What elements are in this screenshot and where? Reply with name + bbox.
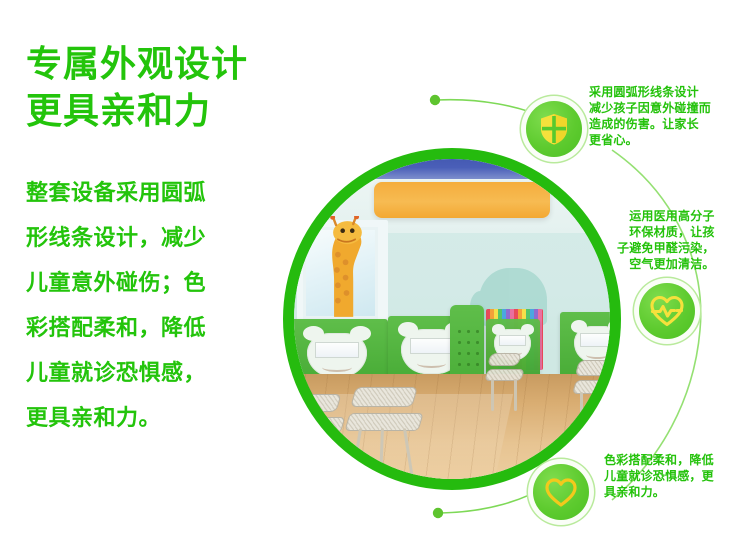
photo-chair-leg bbox=[290, 430, 300, 476]
photo-booth-bearplate-1 bbox=[307, 333, 368, 377]
photo-booth-screen-4 bbox=[580, 333, 614, 347]
photo-chair-leg bbox=[514, 379, 517, 412]
connector-dot-bottom bbox=[433, 508, 443, 518]
clinic-photo-image bbox=[283, 148, 621, 490]
photo-booth-mouth-1 bbox=[322, 363, 351, 372]
callout-text-safety: 采用圆弧形线条设计 减少孩子因意外碰撞而 造成的伤害。让家长 更省心。 bbox=[589, 84, 711, 148]
callout-material-line-2: 环保材质，让孩 bbox=[617, 224, 715, 240]
photo-chair-leg bbox=[491, 379, 494, 412]
photo-booth-screen-1 bbox=[315, 342, 359, 358]
shield-icon bbox=[539, 113, 569, 145]
callout-material-line-3: 子避免甲醛污染， bbox=[617, 240, 715, 256]
body-copy-line-3: 儿童意外碰伤；色 bbox=[26, 260, 276, 305]
photo-ceiling-orange-panel bbox=[374, 182, 550, 218]
photo-chair-back-2 bbox=[350, 387, 418, 407]
photo-chair-seat-4 bbox=[572, 380, 621, 394]
heart-icon bbox=[544, 477, 578, 508]
photo-chair-leg bbox=[580, 392, 583, 432]
photo-chair-3 bbox=[486, 353, 523, 411]
photo-chair-4 bbox=[574, 360, 621, 432]
callout-safety-line-3: 造成的伤害。让家长 bbox=[589, 116, 711, 132]
photo-chair-leg bbox=[326, 430, 336, 476]
photo-chair-leg bbox=[379, 428, 383, 482]
photo-chair-seat-2 bbox=[345, 413, 425, 431]
connector-dot-top bbox=[430, 95, 440, 105]
photo-booth-bearplate-4 bbox=[574, 326, 621, 364]
body-copy-line-5: 儿童就诊恐惧感， bbox=[26, 350, 276, 395]
photo-chair-leg bbox=[351, 428, 362, 479]
photo-chair-seat-1 bbox=[284, 417, 346, 433]
poster-canvas: 专属外观设计 更具亲和力 整套设备采用圆弧 形线条设计，减少 儿童意外碰伤；色 … bbox=[0, 0, 750, 539]
callout-text-material: 运用医用高分子 环保材质，让孩 子避免甲醛污染， 空气更加清洁。 bbox=[617, 208, 715, 272]
photo-giraffe-decal bbox=[313, 216, 370, 322]
connector-line-bottom bbox=[441, 486, 546, 513]
body-copy-line-2: 形线条设计，减少 bbox=[26, 215, 276, 260]
body-copy: 整套设备采用圆弧 形线条设计，减少 儿童意外碰伤；色 彩搭配柔和，降低 儿童就诊… bbox=[26, 170, 276, 440]
callout-safety-line-2: 减少孩子因意外碰撞而 bbox=[589, 100, 711, 116]
photo-booth-screen-3 bbox=[499, 335, 526, 346]
callout-icon-color[interactable] bbox=[533, 464, 589, 520]
body-copy-line-6: 更具亲和力。 bbox=[26, 395, 276, 440]
photo-chair-back-4 bbox=[575, 360, 619, 376]
body-copy-line-1: 整套设备采用圆弧 bbox=[26, 170, 276, 215]
headline-line-2: 更具亲和力 bbox=[26, 87, 326, 134]
heartbeat-icon bbox=[650, 295, 684, 327]
photo-chair-back-1 bbox=[288, 394, 341, 412]
photo-ceiling-blue-panel bbox=[370, 148, 540, 179]
photo-chair-2 bbox=[347, 387, 421, 479]
callout-icon-material[interactable] bbox=[639, 283, 695, 339]
photo-chair-leg bbox=[403, 428, 414, 479]
photo-booth-mouth-4 bbox=[586, 351, 609, 359]
callout-safety-line-1: 采用圆弧形线条设计 bbox=[589, 84, 711, 100]
callout-material-line-1: 运用医用高分子 bbox=[617, 208, 715, 224]
callout-material-line-4: 空气更加清洁。 bbox=[617, 256, 715, 272]
photo-booth-screen-2 bbox=[410, 338, 454, 354]
photo-chair-leg bbox=[610, 392, 613, 432]
callout-color-line-3: 具亲和力。 bbox=[604, 484, 714, 500]
clinic-photo bbox=[283, 148, 621, 490]
callout-color-line-2: 儿童就诊恐惧感，更 bbox=[604, 468, 714, 484]
callout-color-line-1: 色彩搭配柔和，降低 bbox=[604, 452, 714, 468]
callout-text-color: 色彩搭配柔和，降低 儿童就诊恐惧感，更 具亲和力。 bbox=[604, 452, 714, 500]
photo-booth-mouth-2 bbox=[417, 359, 446, 368]
headline-line-1: 专属外观设计 bbox=[26, 43, 248, 84]
photo-chair-1 bbox=[286, 394, 343, 476]
callout-icon-safety[interactable] bbox=[526, 101, 582, 157]
callout-safety-line-4: 更省心。 bbox=[589, 132, 711, 148]
body-copy-line-4: 彩搭配柔和，降低 bbox=[26, 305, 276, 350]
photo-chair-leg bbox=[308, 430, 313, 478]
photo-chair-back-3 bbox=[487, 353, 522, 366]
page-title: 专属外观设计 更具亲和力 bbox=[26, 40, 326, 134]
